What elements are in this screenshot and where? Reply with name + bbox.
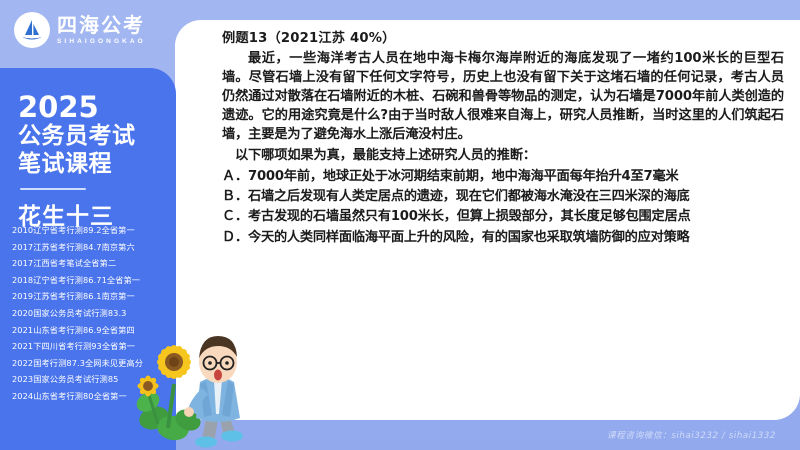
list-item: 2020国家公务员考试行测83.3 [12, 309, 188, 317]
options-list: Ａ．7000年前，地球正处于冰河期结束前期，地中海海平面每年抬升4至7毫米 Ｂ．… [222, 167, 784, 247]
sidebar-heading-block: 2025 公务员考试 笔试课程 花生十三 [0, 68, 176, 231]
sailboat-circle-icon [14, 12, 50, 48]
question-prompt: 以下哪项如果为真，最能支持上述研究人员的推断： [222, 146, 784, 166]
option-b[interactable]: Ｂ．石墙之后发现有人类定居点的遗迹，现在它们都被海水淹没在三四米深的海底 [222, 187, 784, 207]
option-c[interactable]: Ｃ．考古发现的石墙虽然只有100米长，但算上损毁部分，其长度足够包围定居点 [222, 207, 784, 227]
course-line-2: 笔试课程 [18, 150, 176, 178]
contact-watermark: 课程咨询微信：sihai3232 / sihai1332 [607, 429, 776, 441]
option-a[interactable]: Ａ．7000年前，地球正处于冰河期结束前期，地中海海平面每年抬升4至7毫米 [222, 167, 784, 187]
list-item: 2019江苏省考行测86.1南京第一 [12, 292, 188, 300]
list-item: 2017江西省考笔试全省第二 [12, 259, 188, 267]
brand-text: 四海公考 SIHAIGONGKAO [57, 15, 146, 46]
option-d[interactable]: Ｄ．今天的人类同样面临海平面上升的风险，有的国家也采取筑墙防御的应对策略 [222, 228, 784, 248]
brand-logo: 四海公考 SIHAIGONGKAO [14, 12, 146, 48]
question-passage: 最近，一些海洋考古人员在地中海卡梅尔海岸附近的海底发现了一堵约100米长的巨型石… [222, 49, 784, 145]
list-item: 2010辽宁省考行测89.2全省第一 [12, 226, 188, 234]
student-with-sunflowers-illustration [128, 332, 250, 450]
list-item: 2017江苏省考行测84.7南京第六 [12, 243, 188, 251]
list-item: 2018辽宁省考行测86.71全省第一 [12, 276, 188, 284]
brand-name-cn: 四海公考 [57, 15, 146, 35]
brand-name-en: SIHAIGONGKAO [57, 39, 146, 46]
course-year: 2025 [18, 92, 176, 122]
question-body: 例题13（2021江苏 40%） 最近，一些海洋考古人员在地中海卡梅尔海岸附近的… [222, 30, 784, 248]
question-title: 例题13（2021江苏 40%） [222, 30, 784, 48]
course-line-1: 公务员考试 [18, 122, 176, 150]
slide-canvas: 2025 公务员考试 笔试课程 花生十三 2010辽宁省考行测89.2全省第一 … [0, 0, 800, 450]
divider [20, 188, 86, 190]
